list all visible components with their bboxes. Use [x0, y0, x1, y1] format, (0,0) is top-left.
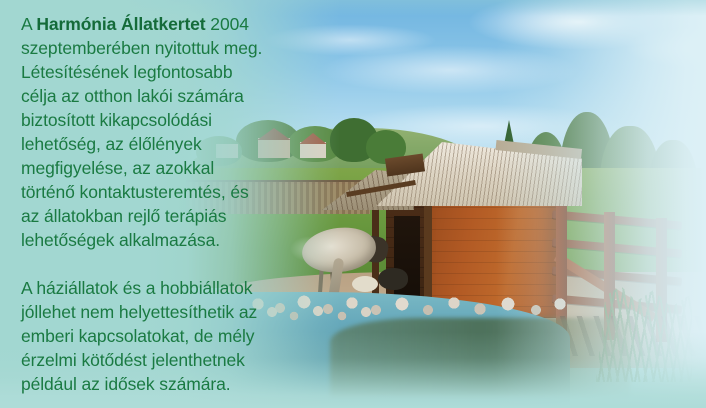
description-text-column: A Harmónia Állatkertet 2004 szeptemberéb… [21, 12, 271, 396]
paragraph-two: A háziállatok és a hobbiállatok jóllehet… [21, 276, 271, 396]
small-animal [378, 268, 408, 290]
info-panel: A Harmónia Állatkertet 2004 szeptemberéb… [0, 0, 706, 408]
paragraph-one: A Harmónia Állatkertet 2004 szeptemberéb… [21, 12, 271, 252]
zoo-name-bold: Harmónia Állatkertet [36, 14, 205, 34]
paragraph-one-rest: 2004 szeptemberében nyitottuk meg. Létes… [21, 14, 262, 250]
ground-stone [352, 276, 378, 292]
paragraph-two-text: A háziállatok és a hobbiállatok jóllehet… [21, 278, 257, 394]
paragraph-one-lead: A [21, 14, 36, 34]
